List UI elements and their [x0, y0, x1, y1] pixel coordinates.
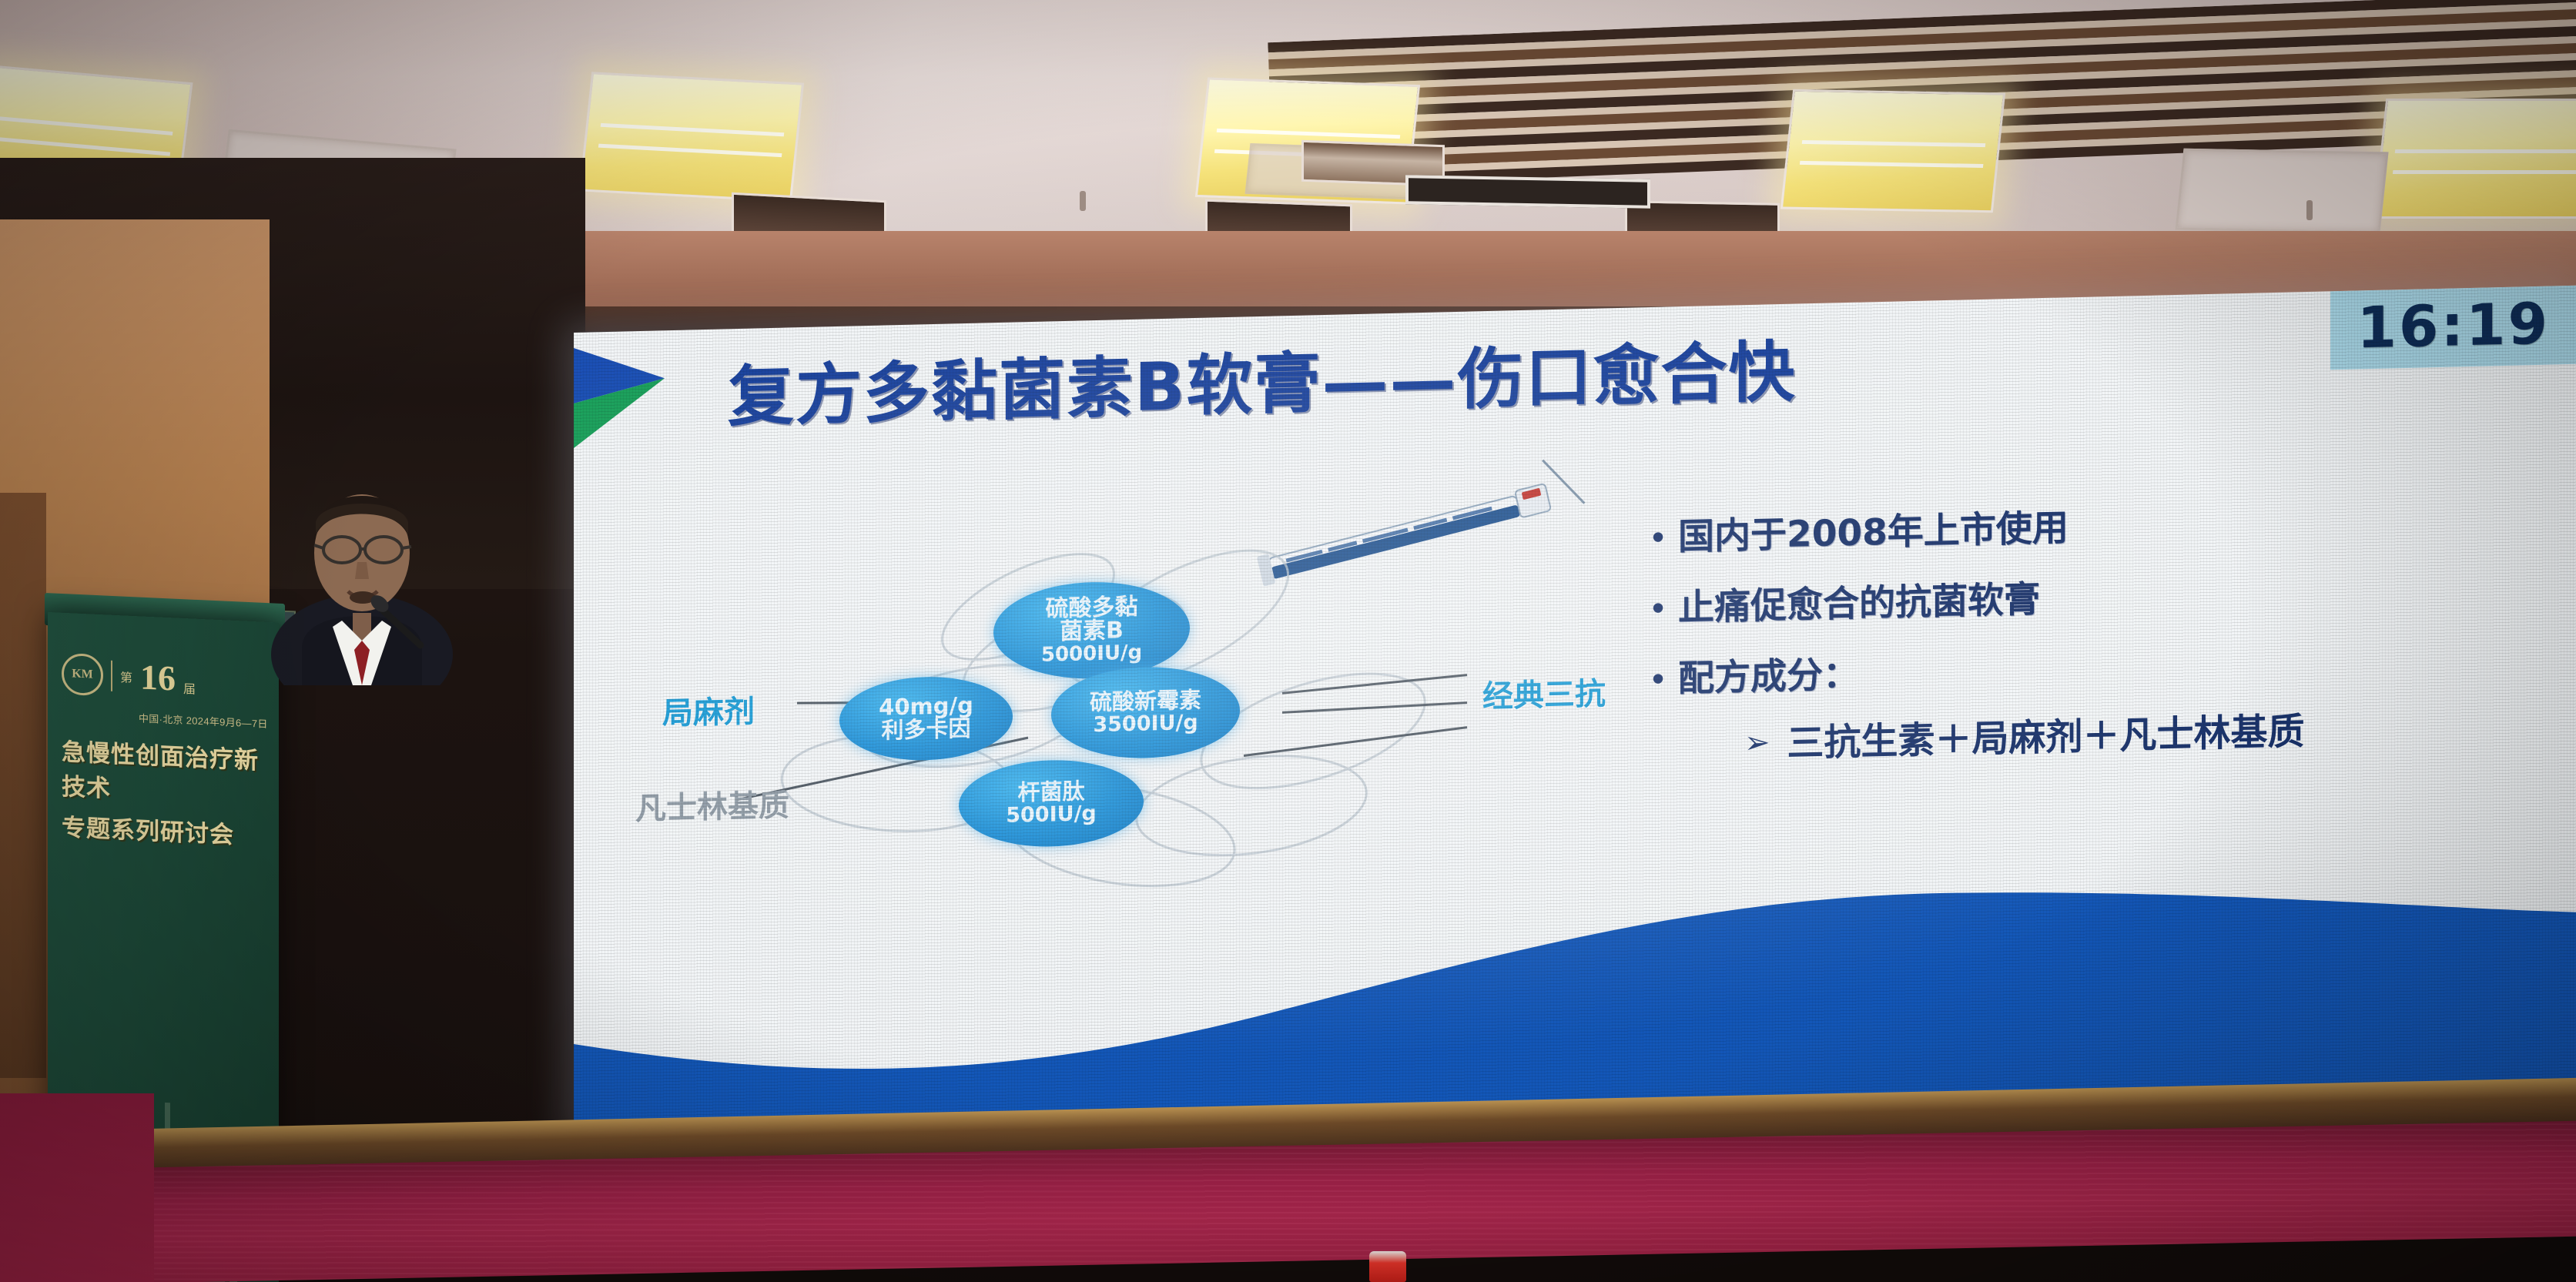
ceiling-sprinkler-1 [1080, 191, 1086, 211]
diagram-label-local-anesthetic: 局麻剂 [662, 686, 755, 733]
arrow-bullet-icon: ➢ [1744, 724, 1770, 762]
bullet-marker-icon: • [1652, 660, 1678, 696]
speaker-person [262, 462, 462, 685]
ceiling-sprinkler-2 [2306, 200, 2313, 220]
red-carpet-left [0, 1093, 154, 1282]
chevron-logo-icon [574, 345, 705, 464]
edition-prefix: 第 [120, 667, 132, 686]
bullet-text: 止痛促愈合的抗菌软膏 [1678, 581, 2040, 628]
clock-display: 16:19 [2330, 286, 2576, 370]
bullet-text: 国内于2008年上市使用 [1678, 509, 2069, 557]
conference-title-line1: 急慢性创面治疗新技术 [62, 732, 268, 811]
conference-photo: 复方多黏菌素B软膏——伤口愈合快 16:19 [0, 0, 2576, 1282]
sub-bullet-text: 三抗生素＋局麻剂＋凡士林基质 [1787, 711, 2305, 764]
bullet-text: 配方成分： [1678, 656, 1859, 699]
formula-diagram: 硫酸多黏 菌素B 5000IU/g 40mg/g 利多卡因 硫酸新霉素 3500… [643, 492, 1660, 1009]
diagram-label-vaseline-base: 凡士林基质 [635, 780, 789, 828]
ceiling-light-2 [579, 72, 804, 203]
banner-divider [111, 661, 112, 691]
sub-bullet-item: ➢ 三抗生素＋局麻剂＋凡士林基质 [1744, 711, 2305, 765]
ceiling-blank-panel-right [2175, 149, 2388, 233]
ceiling-grille [1405, 175, 1650, 209]
bullet-item: • 配方成分： [1652, 645, 2305, 699]
edition-number: 16 [140, 661, 176, 694]
bullet-list: • 国内于2008年上市使用 • 止痛促愈合的抗菌软膏 • 配方成分： ➢ 三抗… [1652, 504, 2305, 767]
ceiling-light-5 [2373, 99, 2576, 219]
conference-title-line2: 专题系列研讨会 [62, 808, 268, 852]
diagram-label-classic-triple: 经典三抗 [1482, 668, 1606, 716]
conference-date: 中国·北京 2024年9月6—7日 [139, 710, 268, 731]
bullet-item: • 国内于2008年上市使用 [1652, 504, 2305, 557]
foreground-red-object [1369, 1251, 1406, 1282]
conference-logo-icon: KM [62, 653, 103, 696]
led-presentation-screen: 复方多黏菌素B软膏——伤口愈合快 16:19 [574, 286, 2576, 1133]
slide-surface: 复方多黏菌素B软膏——伤口愈合快 16:19 [574, 286, 2576, 1133]
side-wall-panel [0, 493, 46, 1078]
ceiling-light-4 [1780, 89, 2005, 213]
bullet-item: • 止痛促愈合的抗菌软膏 [1652, 574, 2305, 628]
edition-suffix: 届 [183, 678, 196, 698]
bullet-marker-icon: • [1652, 589, 1678, 625]
slide-title: 复方多黏菌素B软膏——伤口愈合快 [728, 318, 1797, 440]
bullet-marker-icon: • [1652, 518, 1678, 554]
podium-banner-header: KM 第 16 届 [62, 653, 268, 704]
podium-banner: KM 第 16 届 中国·北京 2024年9月6—7日 急慢性创面治疗新技术 专… [62, 653, 268, 852]
